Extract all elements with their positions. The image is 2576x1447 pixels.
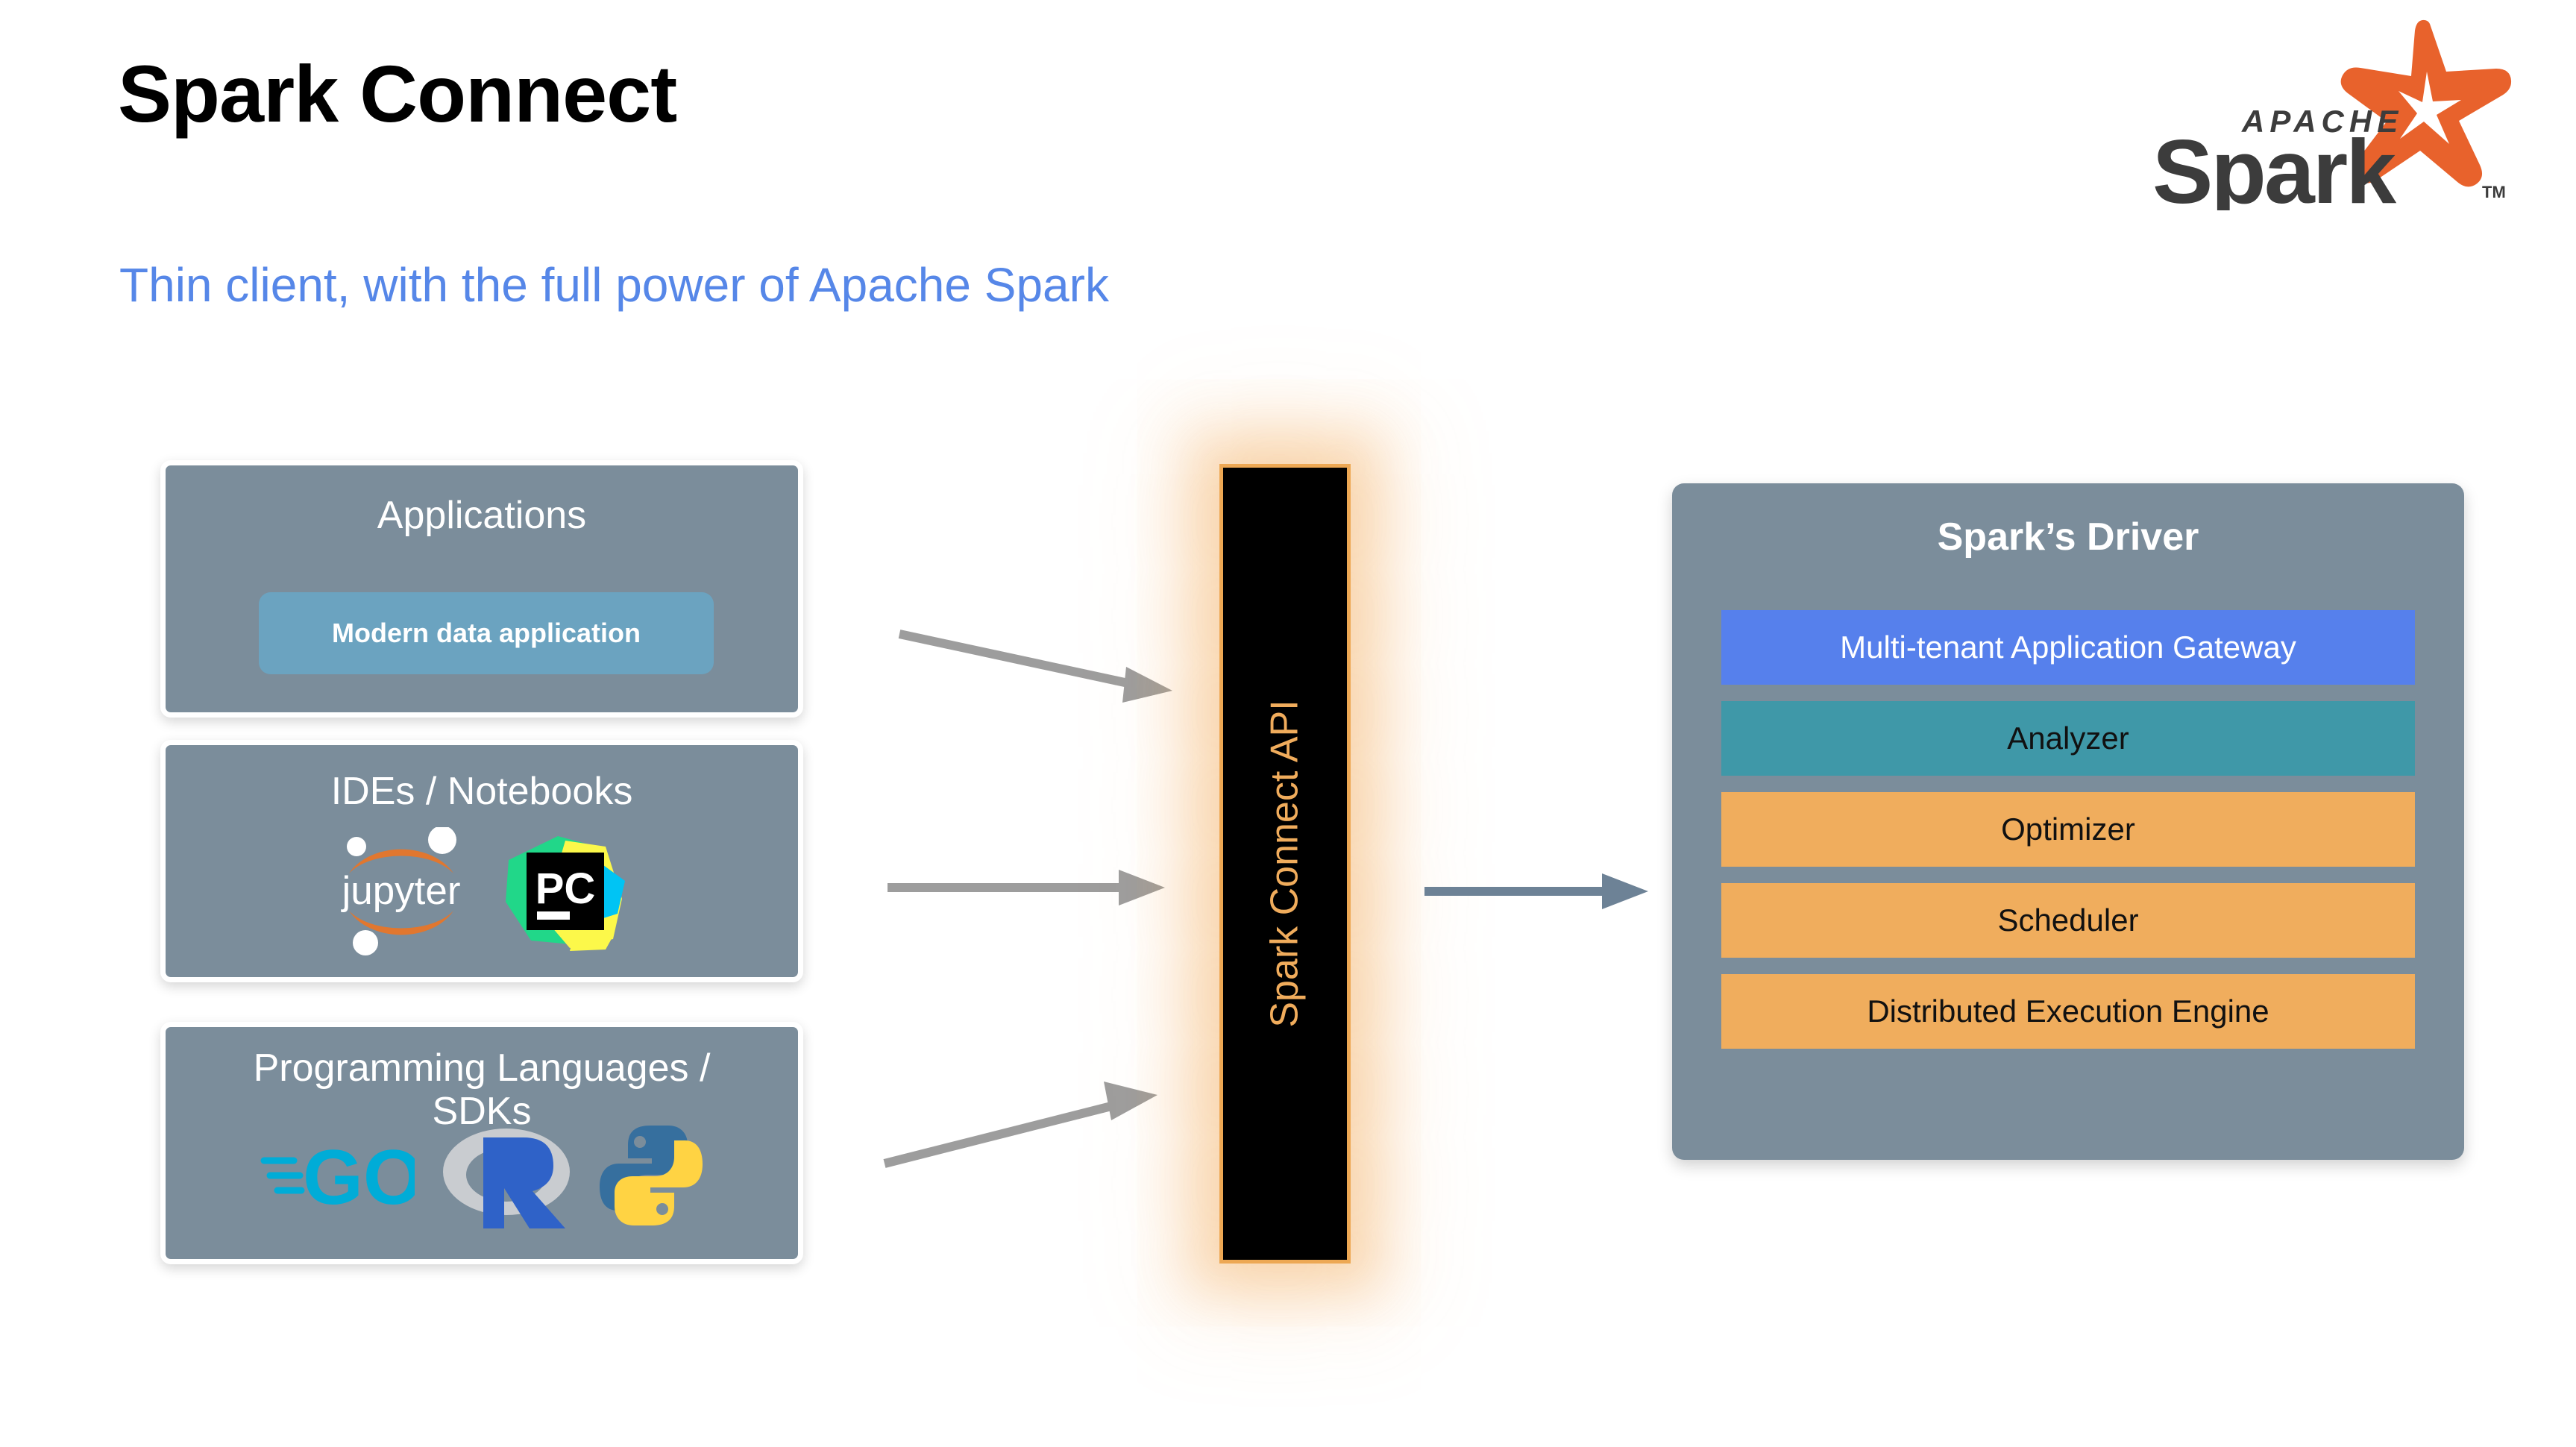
card-title-languages-line1: Programming Languages /: [254, 1046, 711, 1090]
spark-wordmark: Spark: [2152, 121, 2396, 210]
apache-spark-logo: APACHE Spark TM: [2145, 16, 2518, 210]
driver-panel-title: Spark’s Driver: [1672, 518, 2464, 556]
pycharm-logo: PC: [501, 827, 629, 959]
client-card-languages[interactable]: Programming Languages / SDKs GO: [160, 1022, 803, 1264]
svg-text:PC: PC: [535, 864, 596, 913]
arrow-languages-to-api: [880, 1074, 1178, 1178]
page-subtitle: Thin client, with the full power of Apac…: [119, 261, 1109, 309]
svg-text:jupyter: jupyter: [340, 869, 460, 913]
driver-stage-list: Multi-tenant Application Gateway Analyze…: [1721, 610, 2415, 1049]
modern-data-application-chip[interactable]: Modern data application: [259, 592, 714, 674]
arrow-applications-to-api: [895, 619, 1193, 723]
driver-stage-gateway[interactable]: Multi-tenant Application Gateway: [1721, 610, 2415, 685]
spark-connect-api-bar[interactable]: Spark Connect API: [1219, 464, 1351, 1264]
apache-spark-logo-svg: APACHE Spark TM: [2145, 16, 2518, 210]
svg-text:Spark: Spark: [2152, 121, 2396, 210]
driver-stage-execution-engine[interactable]: Distributed Execution Engine: [1721, 974, 2415, 1049]
driver-stage-scheduler[interactable]: Scheduler: [1721, 883, 2415, 958]
card-title-ides: IDEs / Notebooks: [166, 770, 798, 813]
jupyter-logo: jupyter: [334, 827, 468, 959]
client-card-ides[interactable]: IDEs / Notebooks jupyter PC: [160, 740, 803, 982]
spark-connect-api-label: Spark Connect API: [1263, 700, 1307, 1027]
r-logo: [440, 1123, 573, 1232]
go-logo: GO: [260, 1131, 415, 1224]
trademark-symbol: TM: [2482, 183, 2506, 201]
arrow-api-to-driver: [1424, 861, 1671, 921]
page-title: Spark Connect: [118, 54, 676, 134]
ides-logo-row: jupyter PC: [166, 827, 798, 959]
card-title-applications: Applications: [166, 494, 798, 537]
driver-stage-optimizer[interactable]: Optimizer: [1721, 792, 2415, 867]
python-logo: [598, 1123, 704, 1232]
languages-logo-row: GO: [166, 1123, 798, 1232]
client-card-applications[interactable]: Applications Modern data application: [160, 460, 803, 718]
spark-driver-panel[interactable]: Spark’s Driver Multi-tenant Application …: [1672, 483, 2464, 1160]
card-title-languages: Programming Languages / SDKs: [166, 1046, 798, 1133]
arrow-ides-to-api: [888, 858, 1186, 917]
driver-stage-analyzer[interactable]: Analyzer: [1721, 701, 2415, 776]
svg-text:GO: GO: [303, 1134, 415, 1220]
